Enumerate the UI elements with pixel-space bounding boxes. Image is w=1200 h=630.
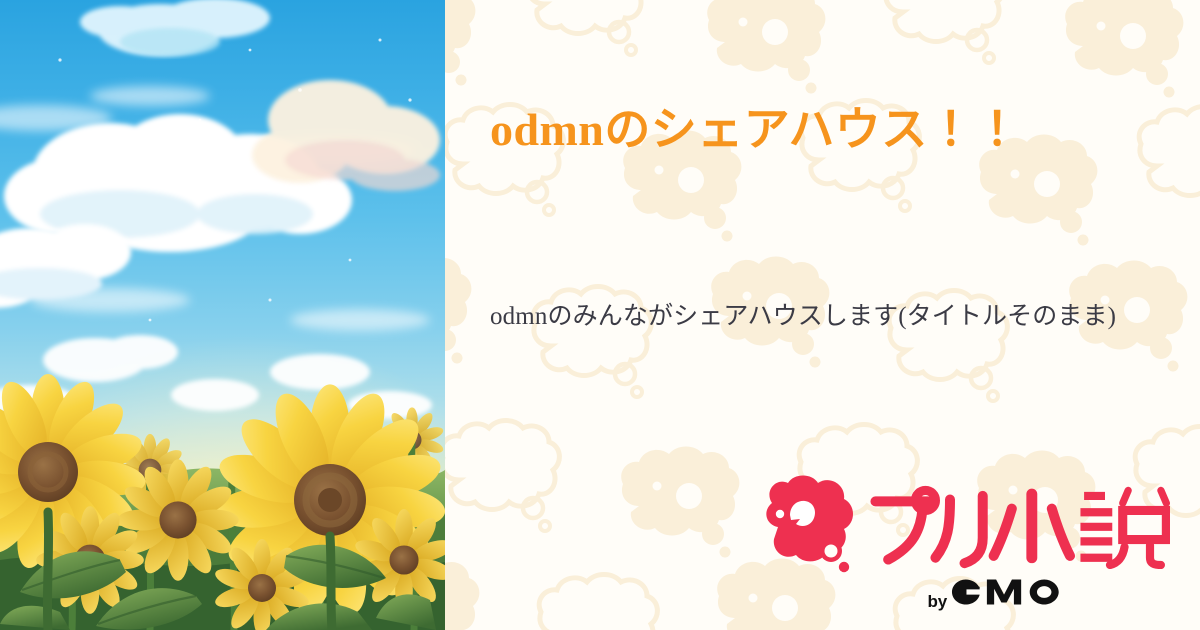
story-description: odmnのみんながシェアハウスします(タイトルそのまま) <box>490 297 1150 337</box>
byline-prefix: by <box>928 592 948 612</box>
by-gmo-byline: by <box>928 577 1063 612</box>
brand-logo[interactable]: by <box>760 475 1170 612</box>
brand-logo-row <box>760 475 1170 575</box>
puri-shousetsu-wordmark <box>870 481 1170 569</box>
thought-bubble-icon <box>760 475 860 575</box>
page-title: odmnのシェアハウス！！ <box>490 93 1090 168</box>
sunflower-sky-illustration <box>0 0 445 630</box>
share-card: odmnのシェアハウス！！ odmnのみんながシェアハウスします(タイトルそのま… <box>0 0 1200 630</box>
info-panel: odmnのシェアハウス！！ odmnのみんながシェアハウスします(タイトルそのま… <box>445 0 1200 630</box>
cover-image <box>0 0 445 630</box>
gmo-logotype <box>950 577 1062 607</box>
